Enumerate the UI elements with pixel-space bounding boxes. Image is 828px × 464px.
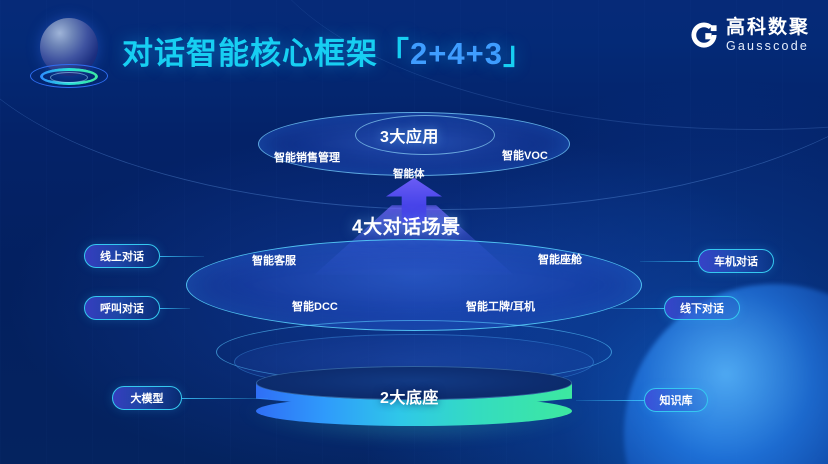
page-title-formula: 2+4+3 (410, 36, 503, 71)
connector-knowledge-base (576, 400, 644, 401)
pill-large-model[interactable]: 大模型 (112, 386, 182, 410)
scenario-label-1: 智能座舱 (538, 251, 582, 267)
layer-foundation-title: 2大底座 (380, 384, 439, 408)
pill-incar-dialogue[interactable]: 车机对话 (698, 249, 774, 273)
sphere-icon (28, 18, 108, 102)
pill-knowledge-base[interactable]: 知识库 (644, 388, 708, 412)
pill-call-dialogue[interactable]: 呼叫对话 (84, 296, 160, 320)
layer-scenarios-title: 4大对话场景 (352, 212, 461, 239)
page-title: 对话智能核心框架「2+4+3」 (122, 28, 535, 73)
sphere-ring-inner (50, 72, 88, 83)
pill-online-dialogue[interactable]: 线上对话 (84, 244, 160, 268)
app-label-voc: 智能VOC (502, 147, 548, 163)
page-title-cn: 对话智能核心框架 (122, 36, 378, 71)
app-label-sales: 智能销售管理 (274, 149, 340, 165)
connector-model (182, 398, 268, 399)
connector-offline (606, 308, 664, 309)
page-title-bracket-close: 」 (503, 36, 535, 71)
connector-car (640, 261, 698, 262)
scenario-label-0: 智能客服 (252, 252, 296, 268)
layer-applications-title: 3大应用 (380, 123, 439, 147)
app-label-agent: 智能体 (393, 166, 425, 181)
pill-offline-dialogue[interactable]: 线下对话 (664, 296, 740, 320)
brand-name-en: Gausscode (726, 40, 810, 53)
gausscode-mark-icon (689, 20, 719, 50)
scenario-label-3: 智能工牌/耳机 (466, 298, 535, 314)
brand-name-cn: 高科数聚 (726, 18, 810, 37)
page-title-bracket-open: 「 (378, 36, 410, 71)
connector-call (160, 308, 190, 309)
slide-canvas: 对话智能核心框架「2+4+3」 高科数聚 Gausscode 3大应用 智能销售… (0, 0, 828, 464)
scenario-label-2: 智能DCC (292, 298, 338, 314)
brand-logo: 高科数聚 Gausscode (689, 18, 810, 53)
brand-logo-text: 高科数聚 Gausscode (726, 18, 810, 53)
connector-online (160, 256, 204, 257)
